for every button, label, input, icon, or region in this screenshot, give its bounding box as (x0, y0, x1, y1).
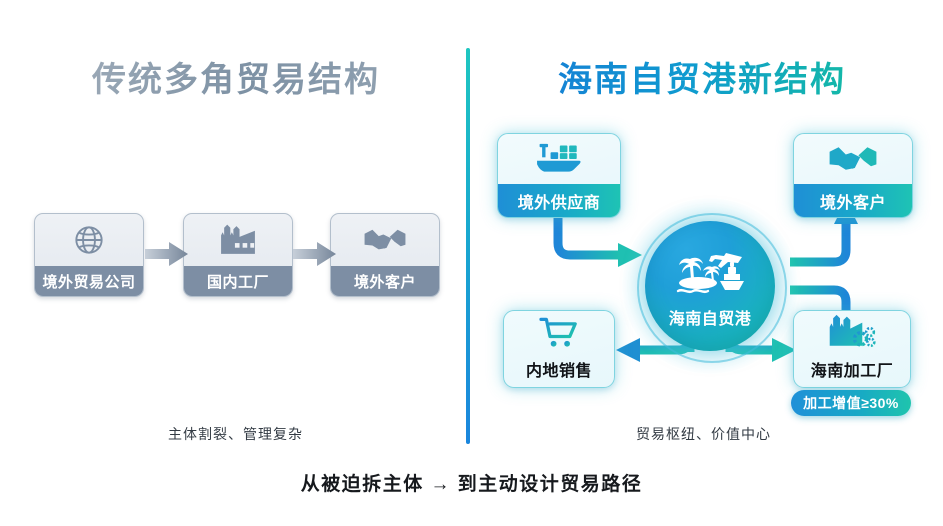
node-domestic-sales[interactable]: 内地销售 (503, 310, 615, 388)
node-label: 境外客户 (331, 266, 439, 296)
right-panel-title: 海南自贸港新结构 (558, 52, 846, 101)
footer-caption: 从被迫拆主体 → 到主动设计贸易路径 (0, 469, 943, 496)
right-panel-caption: 贸易枢纽、价值中心 (636, 424, 771, 444)
node-overseas-customer-legacy[interactable]: 境外客户 (330, 213, 440, 297)
left-panel-caption: 主体割裂、管理复杂 (168, 424, 303, 444)
node-hainan-free-trade-port-hub[interactable]: 海南自贸港 (645, 221, 775, 351)
node-label: 国内工厂 (184, 266, 292, 296)
cargo-ship-icon (498, 134, 620, 184)
node-label: 境外供应商 (498, 184, 620, 217)
node-label: 境外贸易公司 (35, 266, 143, 296)
arrow-trading-to-factory (145, 240, 189, 268)
node-label: 海南加工厂 (794, 353, 910, 385)
node-overseas-supplier[interactable]: 境外供应商 (497, 133, 621, 218)
factory-icon (184, 214, 292, 266)
left-panel-title: 传统多角贸易结构 (92, 52, 380, 101)
node-hainan-processing-plant[interactable]: 海南加工厂 (793, 310, 911, 388)
island-plane-ship-icon (668, 243, 752, 301)
infographic-canvas: 传统多角贸易结构 海南自贸港新结构 境外贸易公司 (0, 0, 943, 526)
node-label: 内地销售 (504, 353, 614, 385)
node-domestic-factory[interactable]: 国内工厂 (183, 213, 293, 297)
handshake-icon (794, 134, 912, 184)
node-overseas-customer[interactable]: 境外客户 (793, 133, 913, 218)
node-label: 境外客户 (794, 184, 912, 217)
node-overseas-trading-company[interactable]: 境外贸易公司 (34, 213, 144, 297)
shopping-cart-icon (504, 311, 614, 353)
arrow-factory-to-customer (293, 240, 337, 268)
factory-gear-icon (794, 311, 910, 353)
hub-label: 海南自贸港 (669, 305, 752, 329)
status-badge-value-added: 加工增值≥30% (791, 390, 911, 416)
handshake-icon (331, 214, 439, 266)
panel-divider (466, 48, 470, 444)
globe-icon (35, 214, 143, 266)
